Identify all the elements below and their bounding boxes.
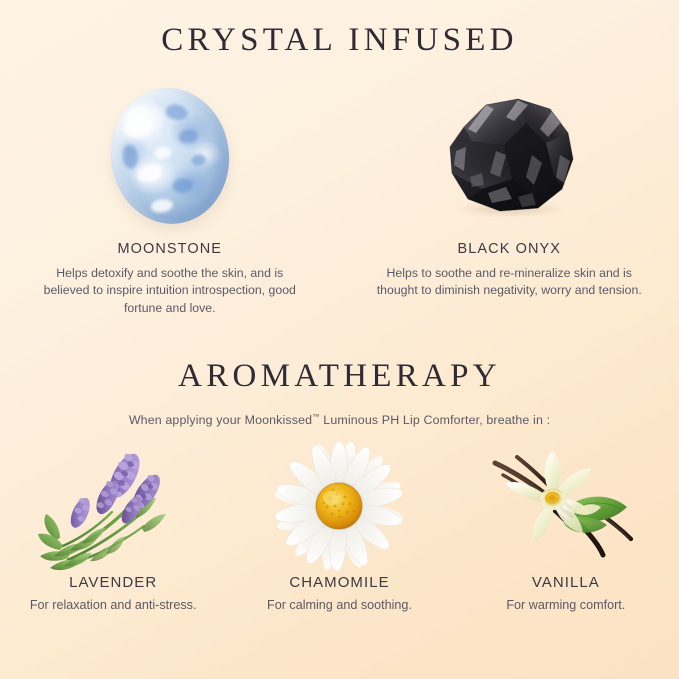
infographic-poster: CRYSTAL INFUSED MOONSTONE He	[0, 0, 679, 679]
aromatherapy-intro-line: When applying your Moonkissed™ Luminous …	[0, 412, 679, 427]
moonstone-flake	[164, 102, 188, 121]
moonstone-description: Helps detoxify and soothe the skin, and …	[35, 265, 305, 317]
chamomile-label: CHAMOMILE	[289, 574, 389, 591]
lavender-image	[0, 442, 226, 574]
moonstone-flake	[121, 144, 139, 170]
intro-text-after: Luminous PH Lip Comforter, breathe in :	[320, 413, 550, 427]
black-onyx-image	[340, 78, 679, 233]
moonstone-flake	[135, 160, 165, 185]
moonstone-flake	[191, 153, 206, 166]
lavender-sprig-icon	[38, 444, 188, 572]
moonstone-flake	[178, 128, 199, 144]
aroma-item-lavender: LAVENDER For relaxation and anti-stress.	[0, 442, 226, 657]
trademark-symbol: ™	[312, 412, 320, 421]
crystal-item-moonstone: MOONSTONE Helps detoxify and soothe the …	[0, 78, 340, 338]
chamomile-description: For calming and soothing.	[267, 598, 412, 612]
vanilla-label: VANILLA	[532, 574, 600, 591]
moonstone-flake	[154, 145, 172, 159]
intro-text-before: When applying your Moonkissed	[129, 413, 312, 427]
black-onyx-description: Helps to soothe and re-mineralize skin a…	[374, 265, 644, 300]
black-onyx-label: BLACK ONYX	[457, 241, 561, 257]
aroma-item-vanilla: VANILLA For warming comfort.	[453, 442, 679, 657]
aroma-item-chamomile: CHAMOMILE For calming and soothing.	[226, 442, 452, 657]
crystal-item-black-onyx: BLACK ONYX Helps to soothe and re-minera…	[340, 78, 679, 338]
moonstone-image	[0, 78, 340, 233]
moonstone-flake	[172, 177, 194, 193]
chamomile-image	[226, 442, 452, 574]
moonstone-label: MOONSTONE	[117, 241, 222, 257]
moonstone-highlight	[122, 102, 165, 133]
crystal-infused-heading: CRYSTAL INFUSED	[0, 24, 679, 57]
crystal-items-row: MOONSTONE Helps detoxify and soothe the …	[0, 78, 679, 338]
aromatherapy-items-row: LAVENDER For relaxation and anti-stress.	[0, 442, 679, 657]
vanilla-flower-bean-icon	[491, 445, 641, 571]
vanilla-description: For warming comfort.	[506, 598, 625, 612]
lavender-label: LAVENDER	[69, 574, 157, 591]
vanilla-image	[453, 442, 679, 574]
chamomile-flower-icon	[273, 446, 405, 570]
moonstone-cabochon-icon	[103, 81, 237, 230]
aromatherapy-heading: AROMATHERAPY	[0, 360, 679, 393]
black-onyx-rough-stone-icon	[434, 93, 584, 219]
lavender-description: For relaxation and anti-stress.	[30, 598, 197, 612]
moonstone-flake	[150, 198, 173, 214]
